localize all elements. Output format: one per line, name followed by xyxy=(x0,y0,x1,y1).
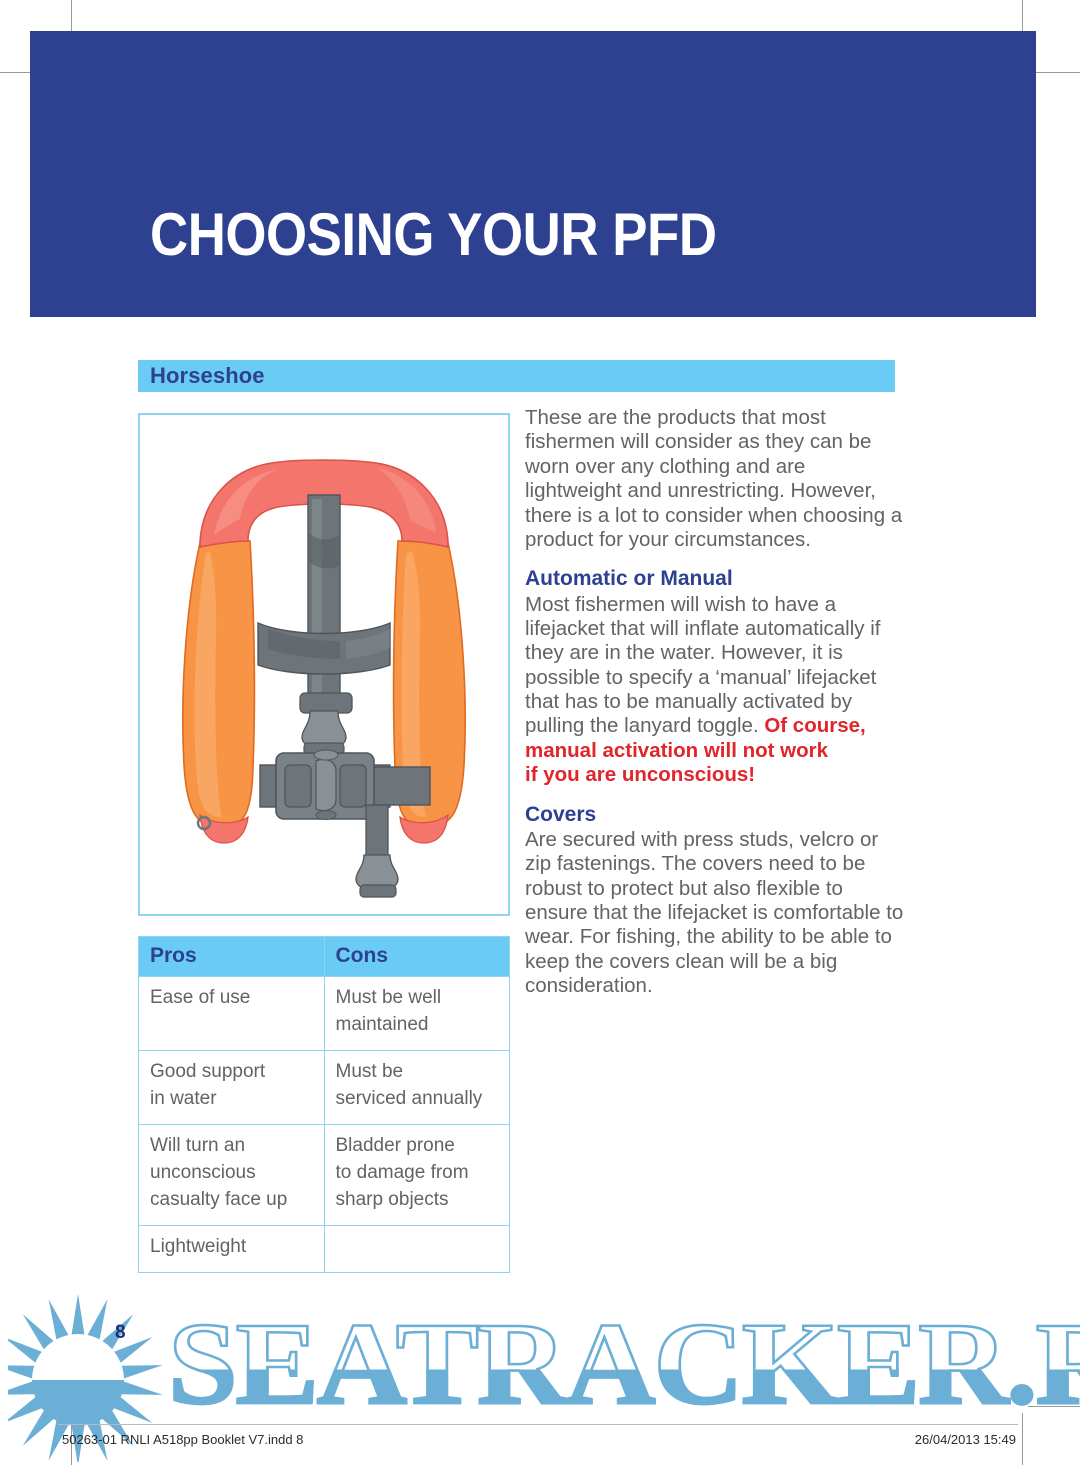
table-header-cons: Cons xyxy=(324,937,510,977)
table-header-pros: Pros xyxy=(139,937,325,977)
page-number: 8 xyxy=(115,1322,126,1344)
footer-divider xyxy=(58,1424,1018,1425)
emphasis-line: Of course, xyxy=(764,714,865,737)
cell-line: Ease of use xyxy=(150,985,313,1012)
document-page: CHOOSING YOUR PFD Horseshoe xyxy=(0,0,1080,1465)
crop-mark-bottom-right-vertical xyxy=(1022,1413,1023,1465)
emphasis-line: manual activation will not work xyxy=(525,739,907,763)
cell-line: to damage from xyxy=(336,1160,499,1187)
heading-automatic-or-manual: Automatic or Manual xyxy=(525,566,907,591)
emphasis-line: if you are unconscious! xyxy=(525,763,907,787)
cell-line: maintained xyxy=(336,1012,499,1039)
cell-line: Lightweight xyxy=(150,1234,313,1261)
table-cell-pros: Lightweight xyxy=(139,1225,325,1272)
footer-filename: 50263-01 RNLI A518pp Booklet V7.indd 8 xyxy=(62,1432,303,1447)
table-row: Ease of use Must be well maintained xyxy=(139,976,510,1050)
table-header-row: Pros Cons xyxy=(139,937,510,977)
paragraph-automatic-or-manual: Most fishermen will wish to have a lifej… xyxy=(525,593,907,788)
watermark-text: SEATRACKER.RU xyxy=(168,1296,1080,1432)
cell-line: unconscious xyxy=(150,1160,313,1187)
table-cell-pros: Ease of use xyxy=(139,976,325,1050)
section-band-horseshoe: Horseshoe xyxy=(138,360,895,392)
table-row: Will turn an unconscious casualty face u… xyxy=(139,1124,510,1225)
table-cell-cons: Must be well maintained xyxy=(324,976,510,1050)
paragraph-covers: Are secured with press studs, velcro or … xyxy=(525,828,907,999)
section-band-label: Horseshoe xyxy=(150,363,265,389)
table-cell-cons xyxy=(324,1225,510,1272)
cell-line: Good support xyxy=(150,1059,313,1086)
illustration-frame xyxy=(138,413,510,916)
footer-timestamp: 26/04/2013 15:49 xyxy=(915,1432,1016,1447)
crop-mark-bottom-right-horizontal xyxy=(1028,1406,1080,1407)
table-row: Lightweight xyxy=(139,1225,510,1272)
table-cell-pros: Good support in water xyxy=(139,1050,325,1124)
cell-line: Will turn an xyxy=(150,1133,313,1160)
body-text-column: These are the products that most fisherm… xyxy=(525,406,907,1013)
cell-line: Must be xyxy=(336,1059,499,1086)
cell-line: Bladder prone xyxy=(336,1133,499,1160)
intro-paragraph: These are the products that most fisherm… xyxy=(525,406,907,552)
horseshoe-lifejacket-illustration xyxy=(140,415,508,914)
title-banner: CHOOSING YOUR PFD xyxy=(30,31,1036,317)
page-title: CHOOSING YOUR PFD xyxy=(150,200,717,269)
cell-line: Must be well xyxy=(336,985,499,1012)
table-cell-cons: Bladder prone to damage from sharp objec… xyxy=(324,1124,510,1225)
table-cell-pros: Will turn an unconscious casualty face u… xyxy=(139,1124,325,1225)
cell-line: sharp objects xyxy=(336,1187,499,1214)
pros-cons-table: Pros Cons Ease of use Must be well maint… xyxy=(138,936,510,1273)
cell-line: in water xyxy=(150,1086,313,1113)
table-cell-cons: Must be serviced annually xyxy=(324,1050,510,1124)
cell-line: casualty face up xyxy=(150,1187,313,1214)
heading-covers: Covers xyxy=(525,802,907,827)
cell-line: serviced annually xyxy=(336,1086,499,1113)
table-row: Good support in water Must be serviced a… xyxy=(139,1050,510,1124)
